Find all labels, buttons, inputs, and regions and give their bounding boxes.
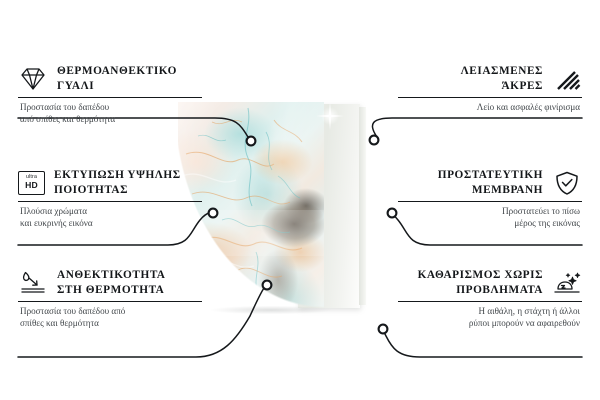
feature-title: ΕΚΤΥΠΩΣΗ ΥΨΗΛΗΣ ΠΟΙΟΤΗΤΑΣ — [54, 168, 181, 197]
smooth-edges-icon — [552, 66, 582, 92]
leader-dot-3 — [263, 281, 272, 290]
feature-rule — [398, 301, 582, 302]
diamond-icon — [18, 66, 48, 92]
feature-title: ΛΕΙΑΣΜΕΝΕΣ ΆΚΡΕΣ — [461, 64, 543, 93]
easy-clean-icon — [552, 270, 582, 296]
ultra-hd-icon: ultra HD — [18, 171, 45, 195]
feature-rule — [18, 97, 202, 98]
feature-heat-durability[interactable]: ΑΝΘΕΚΤΙΚΟΤΗΤΑ ΣΤΗ ΘΕΡΜΟΤΗΤΑ Προστασία το… — [18, 268, 218, 330]
feature-easy-cleaning[interactable]: ΚΑΘΑΡΙΣΜΟΣ ΧΩΡΙΣ ΠΡΟΒΛΗΜΑΤΑ Η αιθάλη, η … — [382, 268, 582, 330]
feature-smooth-edges[interactable]: ΛΕΙΑΣΜΕΝΕΣ ΆΚΡΕΣ Λείο και ασφαλές φινίρι… — [382, 64, 582, 114]
feature-protective-membrane[interactable]: ΠΡΟΣΤΑΤΕΥΤΙΚΗ ΜΕΜΒΡΑΝΗ Προστατεύει το πί… — [382, 168, 582, 230]
feature-subtitle: Προστασία του δαπέδου από σπίθες και θερ… — [18, 306, 218, 329]
feature-rule — [18, 301, 202, 302]
feature-rule — [398, 97, 582, 98]
leader-dot-4 — [370, 136, 379, 145]
infographic-canvas: ΘΕΡΜΟΑΝΘΕΚΤΙΚΟ ΓΥΑΛΙ Προστασία του δαπέδ… — [0, 0, 600, 400]
feature-subtitle: Λείο και ασφαλές φινίρισμα — [382, 102, 582, 114]
feature-rule — [18, 201, 202, 202]
feature-subtitle: Προστασία του δαπέδου από σπίθες και θερ… — [18, 102, 218, 125]
feature-subtitle: Πλούσια χρώματα και ευκρινής εικόνα — [18, 206, 218, 229]
ultra-hd-icon-bottom: HD — [25, 181, 38, 190]
shield-check-icon — [552, 170, 582, 196]
feature-title: ΑΝΘΕΚΤΙΚΟΤΗΤΑ ΣΤΗ ΘΕΡΜΟΤΗΤΑ — [57, 268, 166, 297]
feature-rule — [398, 201, 582, 202]
feature-heat-resistant-glass[interactable]: ΘΕΡΜΟΑΝΘΕΚΤΙΚΟ ΓΥΑΛΙ Προστασία του δαπέδ… — [18, 64, 218, 126]
feature-subtitle: Προστατεύει το πίσω μέρος της εικόνας — [382, 206, 582, 229]
feature-title: ΠΡΟΣΤΑΤΕΥΤΙΚΗ ΜΕΜΒΡΑΝΗ — [438, 168, 543, 197]
feature-high-quality-print[interactable]: ultra HD ΕΚΤΥΠΩΣΗ ΥΨΗΛΗΣ ΠΟΙΟΤΗΤΑΣ Πλούσ… — [18, 168, 218, 230]
feature-title: ΚΑΘΑΡΙΣΜΟΣ ΧΩΡΙΣ ΠΡΟΒΛΗΜΑΤΑ — [418, 268, 543, 297]
heat-resistance-icon — [18, 270, 48, 296]
feature-title: ΘΕΡΜΟΑΝΘΕΚΤΙΚΟ ΓΥΑΛΙ — [57, 64, 177, 93]
leader-dot-1 — [247, 137, 256, 146]
feature-subtitle: Η αιθάλη, η στάχτη ή άλλοι ρύποι μπορούν… — [382, 306, 582, 329]
